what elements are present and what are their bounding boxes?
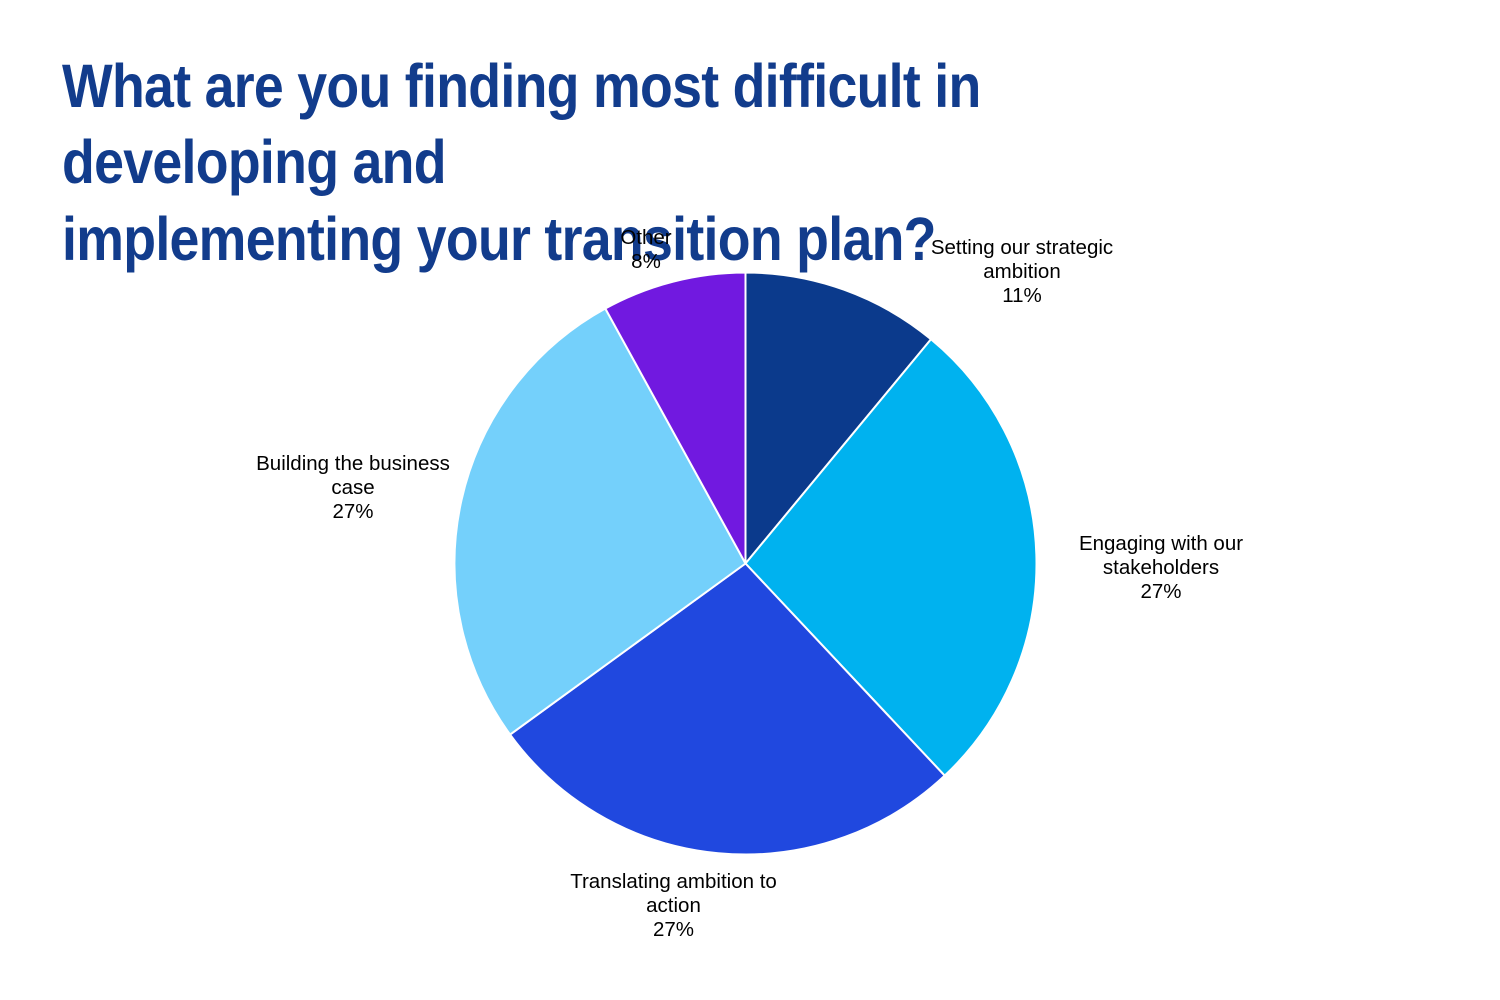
pie-label-setting-our-strategic-ambition: Setting our strategic ambition 11%: [902, 236, 1142, 309]
pie-slice-group: [454, 272, 1036, 854]
pie-label-building-the-business-case: Building the business case 27%: [249, 452, 457, 525]
pie-label-engaging-with-our-stakeholders: Engaging with our stakeholders 27%: [1041, 532, 1281, 605]
pie-chart-svg: [0, 0, 1500, 1000]
pie-label-translating-ambition-to-action: Translating ambition to action 27%: [551, 870, 796, 943]
pie-chart-plot-area: Other 8% Setting our strategic ambition …: [0, 0, 1500, 1000]
pie-label-other: Other 8%: [546, 226, 746, 274]
